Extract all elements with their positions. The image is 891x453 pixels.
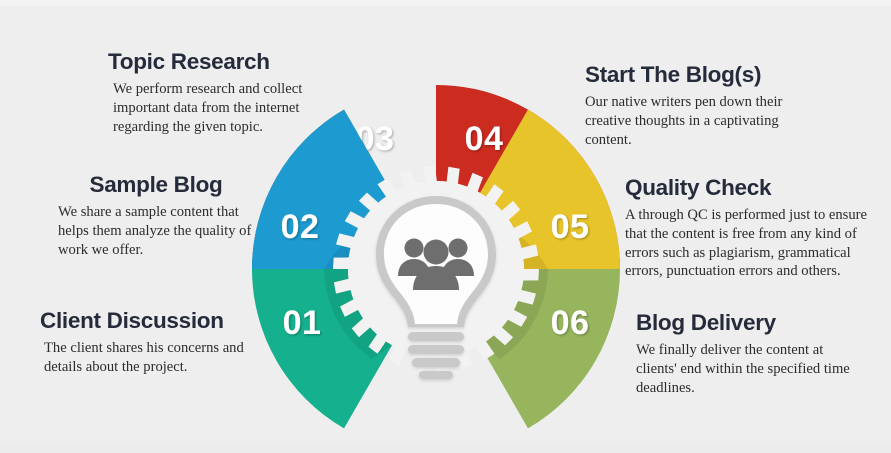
step-body-01: The client shares his concerns and detai…: [40, 339, 254, 376]
step-text-blog-delivery: Blog Delivery We finally deliver the con…: [636, 310, 861, 397]
segment-number-06: 06: [551, 304, 590, 342]
step-text-client-discussion: Client Discussion The client shares his …: [40, 308, 270, 377]
step-body-03: We perform research and collect importan…: [108, 80, 331, 136]
step-text-sample-blog: Sample Blog We share a sample content th…: [58, 172, 276, 259]
step-title-05: Quality Check: [625, 175, 887, 200]
step-title-02: Sample Blog: [58, 172, 254, 197]
step-text-topic-research: Topic Research We perform research and c…: [108, 49, 344, 136]
step-body-05: A through QC is performed just to ensure…: [625, 206, 887, 281]
step-body-02: We share a sample content that helps the…: [58, 203, 264, 259]
step-title-01: Client Discussion: [40, 308, 270, 333]
step-title-06: Blog Delivery: [636, 310, 861, 335]
step-text-start-the-blogs: Start The Blog(s) Our native writers pen…: [585, 62, 820, 149]
step-title-03: Topic Research: [108, 49, 344, 74]
step-text-quality-check: Quality Check A through QC is performed …: [625, 175, 887, 281]
step-body-04: Our native writers pen down their creati…: [585, 93, 820, 149]
infographic-canvas: 03 02 01 04 05: [0, 0, 891, 453]
step-title-04: Start The Blog(s): [585, 62, 820, 87]
segment-number-01: 01: [283, 304, 322, 342]
step-body-06: We finally deliver the content at client…: [636, 341, 861, 397]
segment-number-02: 02: [281, 208, 320, 246]
